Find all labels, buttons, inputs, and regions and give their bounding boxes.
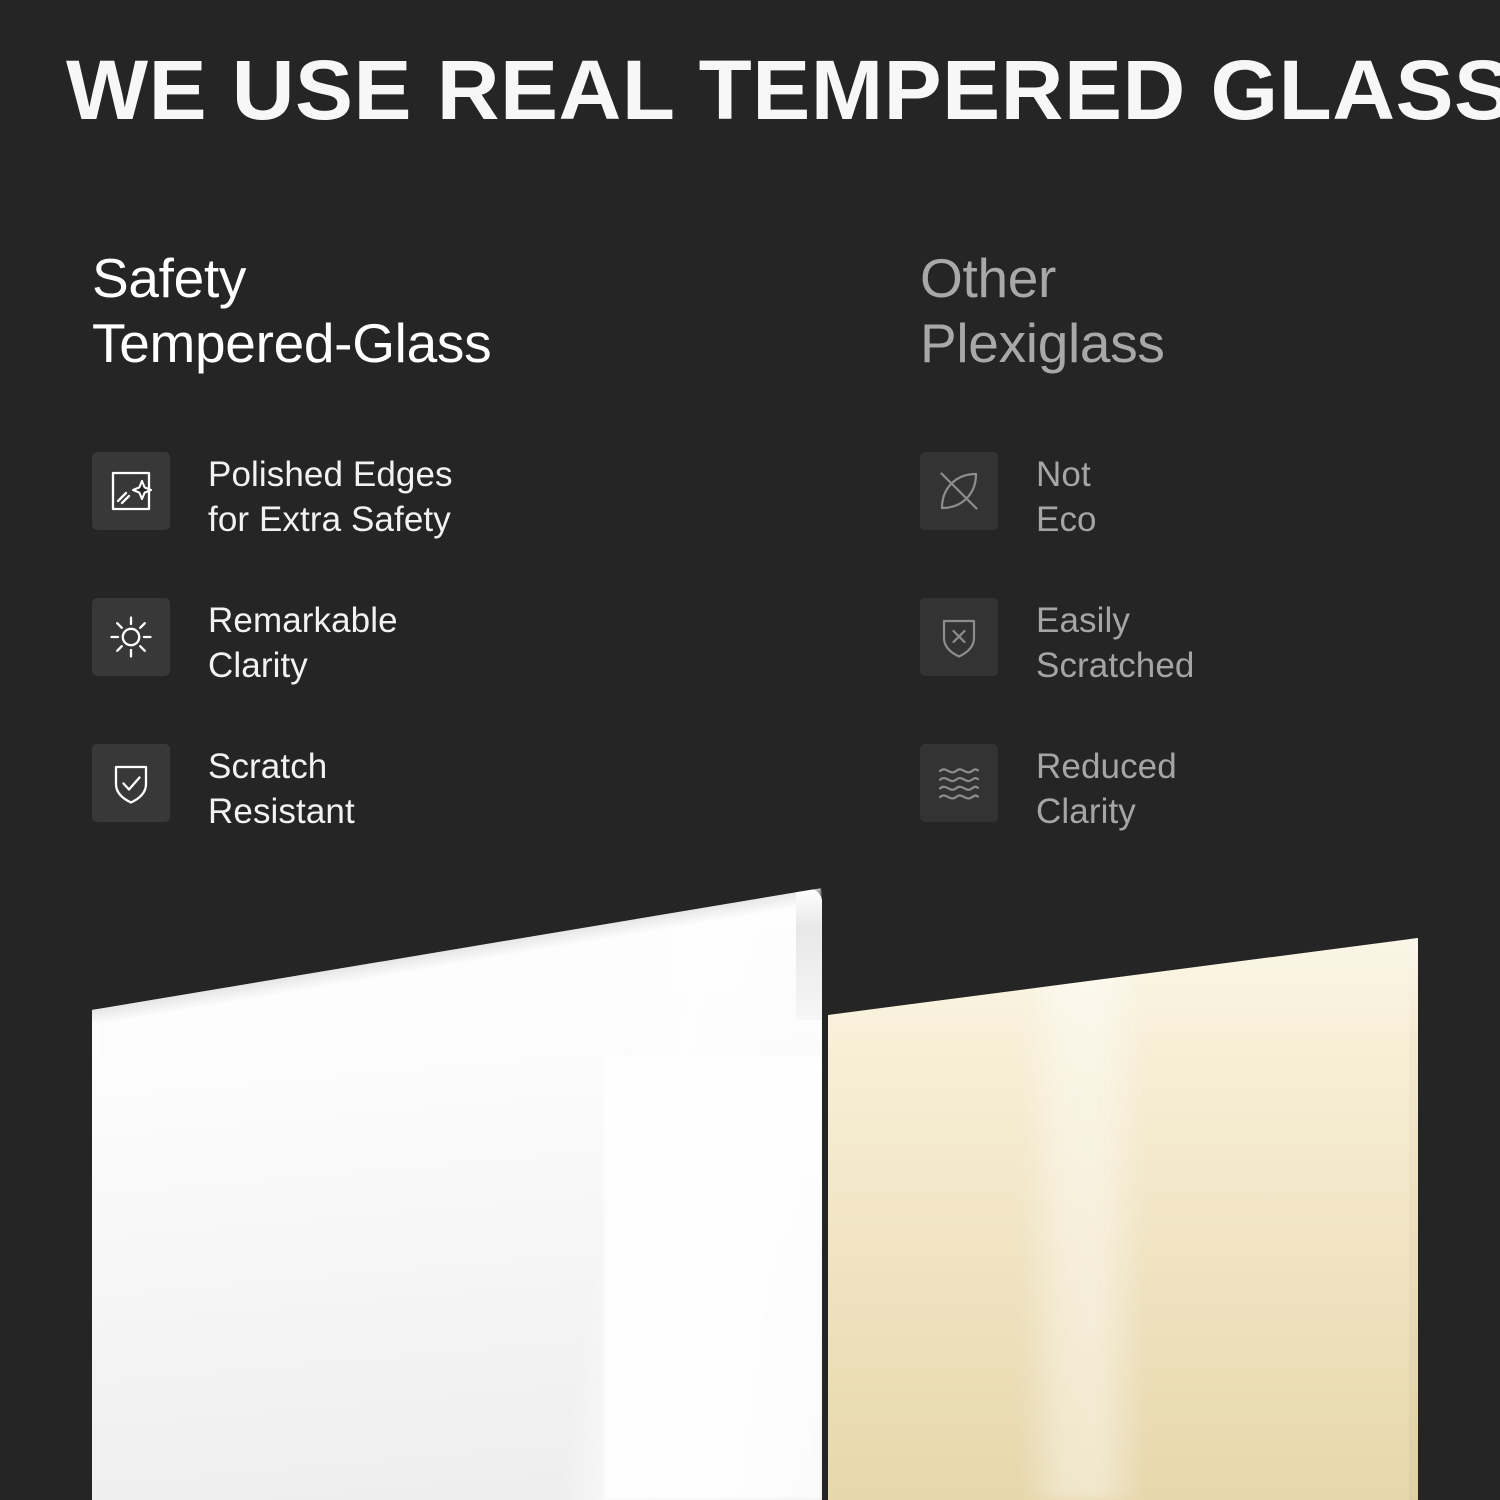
feature-label: Reduced Clarity — [1036, 740, 1177, 835]
glass-polished-top-edge — [85, 863, 823, 1026]
brightness-sun-icon — [92, 598, 170, 676]
wavy-distortion-lines-icon — [920, 744, 998, 822]
feature-label: Remarkable Clarity — [208, 594, 398, 689]
feature-row: Remarkable Clarity — [92, 594, 852, 740]
leaf-crossed-out-icon — [920, 452, 998, 530]
feature-list-plexiglass: Not Eco Easily Scratched Reduced Cla — [920, 448, 1480, 886]
feature-label: Scratch Resistant — [208, 740, 355, 835]
feature-label: Easily Scratched — [1036, 594, 1195, 689]
plexi-top-edge — [828, 860, 1418, 1500]
glass-reflection — [604, 1056, 822, 1500]
plexiglass-panel — [828, 860, 1418, 1500]
feature-label: Not Eco — [1036, 448, 1097, 543]
product-comparison-image — [0, 860, 1500, 1500]
comparison-column-plexiglass: Other Plexiglass Not Eco Easily Scratche… — [920, 246, 1480, 886]
headline-text: WE USE REAL TEMPERED GLASS — [66, 48, 1500, 132]
feature-row: Easily Scratched — [920, 594, 1480, 740]
tempered-glass-panel — [92, 888, 822, 1500]
polished-glass-sparkle-icon — [92, 452, 170, 530]
feature-row: Polished Edges for Extra Safety — [92, 448, 852, 594]
shield-x-icon — [920, 598, 998, 676]
glass-rounded-corner — [796, 888, 822, 1020]
feature-row: Not Eco — [920, 448, 1480, 594]
shield-check-icon — [92, 744, 170, 822]
comparison-column-tempered-glass: Safety Tempered-Glass Polished Edges for… — [92, 246, 852, 886]
feature-list-tempered-glass: Polished Edges for Extra Safety Remarkab… — [92, 448, 852, 886]
column-heading-plexiglass: Other Plexiglass — [920, 246, 1480, 376]
column-heading-tempered-glass: Safety Tempered-Glass — [92, 246, 852, 376]
page-title: WE USE REAL TEMPERED GLASS — [66, 42, 1466, 138]
glass-left-edge — [92, 1006, 99, 1500]
feature-label: Polished Edges for Extra Safety — [208, 448, 453, 543]
